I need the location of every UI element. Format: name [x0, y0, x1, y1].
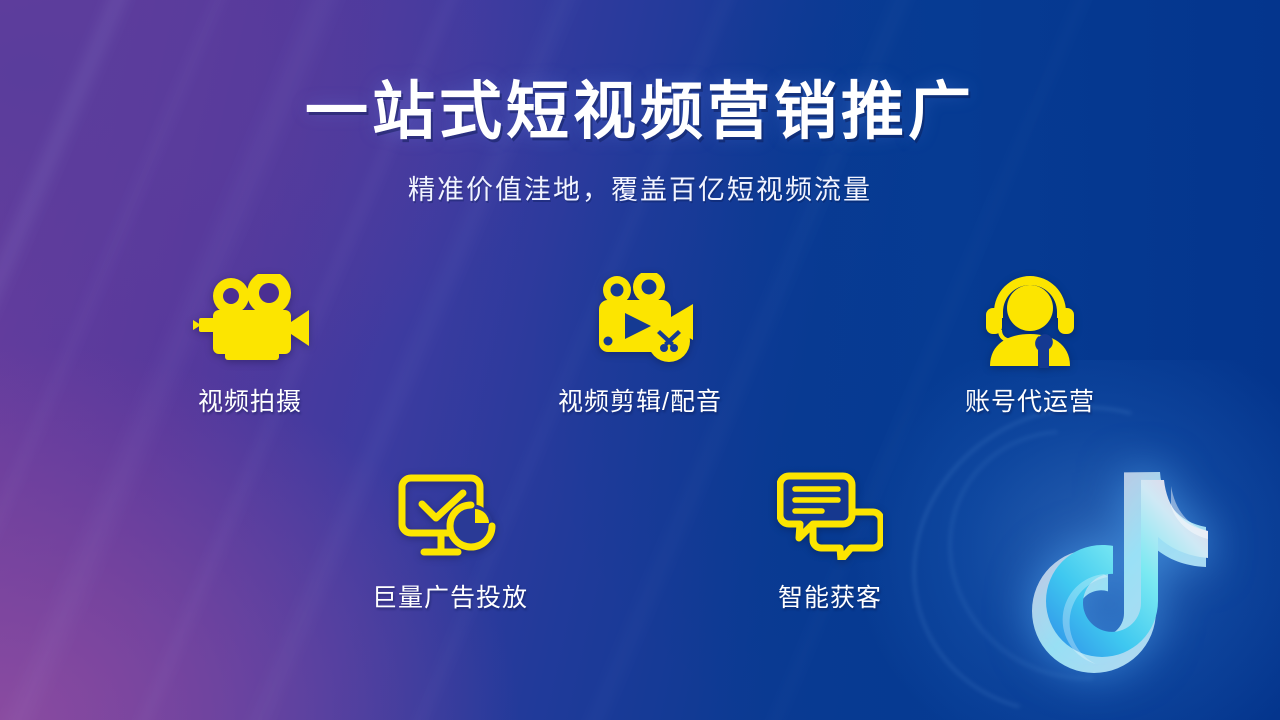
movie-camera-icon [191, 272, 309, 368]
feature-label: 巨量广告投放 [372, 578, 528, 614]
page-subtitle: 精准价值洼地，覆盖百亿短视频流量 [0, 168, 1280, 207]
feature-smart-customer-acquisition[interactable]: 智能获客 [735, 468, 925, 614]
feature-account-operation[interactable]: 账号代运营 [935, 272, 1125, 418]
feature-row-top: 视频拍摄 [0, 272, 1280, 418]
video-edit-scissors-icon [581, 272, 699, 368]
monitor-check-chart-icon [397, 468, 503, 564]
feature-label: 智能获客 [778, 578, 882, 614]
headset-agent-wrench-icon [976, 272, 1084, 368]
chat-bubbles-icon [777, 468, 883, 564]
page-title: 一站式短视频营销推广 [0, 78, 1280, 146]
feature-ad-delivery[interactable]: 巨量广告投放 [355, 468, 545, 614]
hero-section: 一站式短视频营销推广 精准价值洼地，覆盖百亿短视频流量 [0, 78, 1280, 207]
douyin-music-note-logo [1008, 456, 1238, 686]
feature-label: 账号代运营 [965, 382, 1095, 418]
feature-video-shooting[interactable]: 视频拍摄 [155, 272, 345, 418]
feature-label: 视频拍摄 [198, 382, 302, 418]
feature-video-editing[interactable]: 视频剪辑/配音 [545, 272, 735, 418]
feature-label: 视频剪辑/配音 [558, 382, 722, 418]
